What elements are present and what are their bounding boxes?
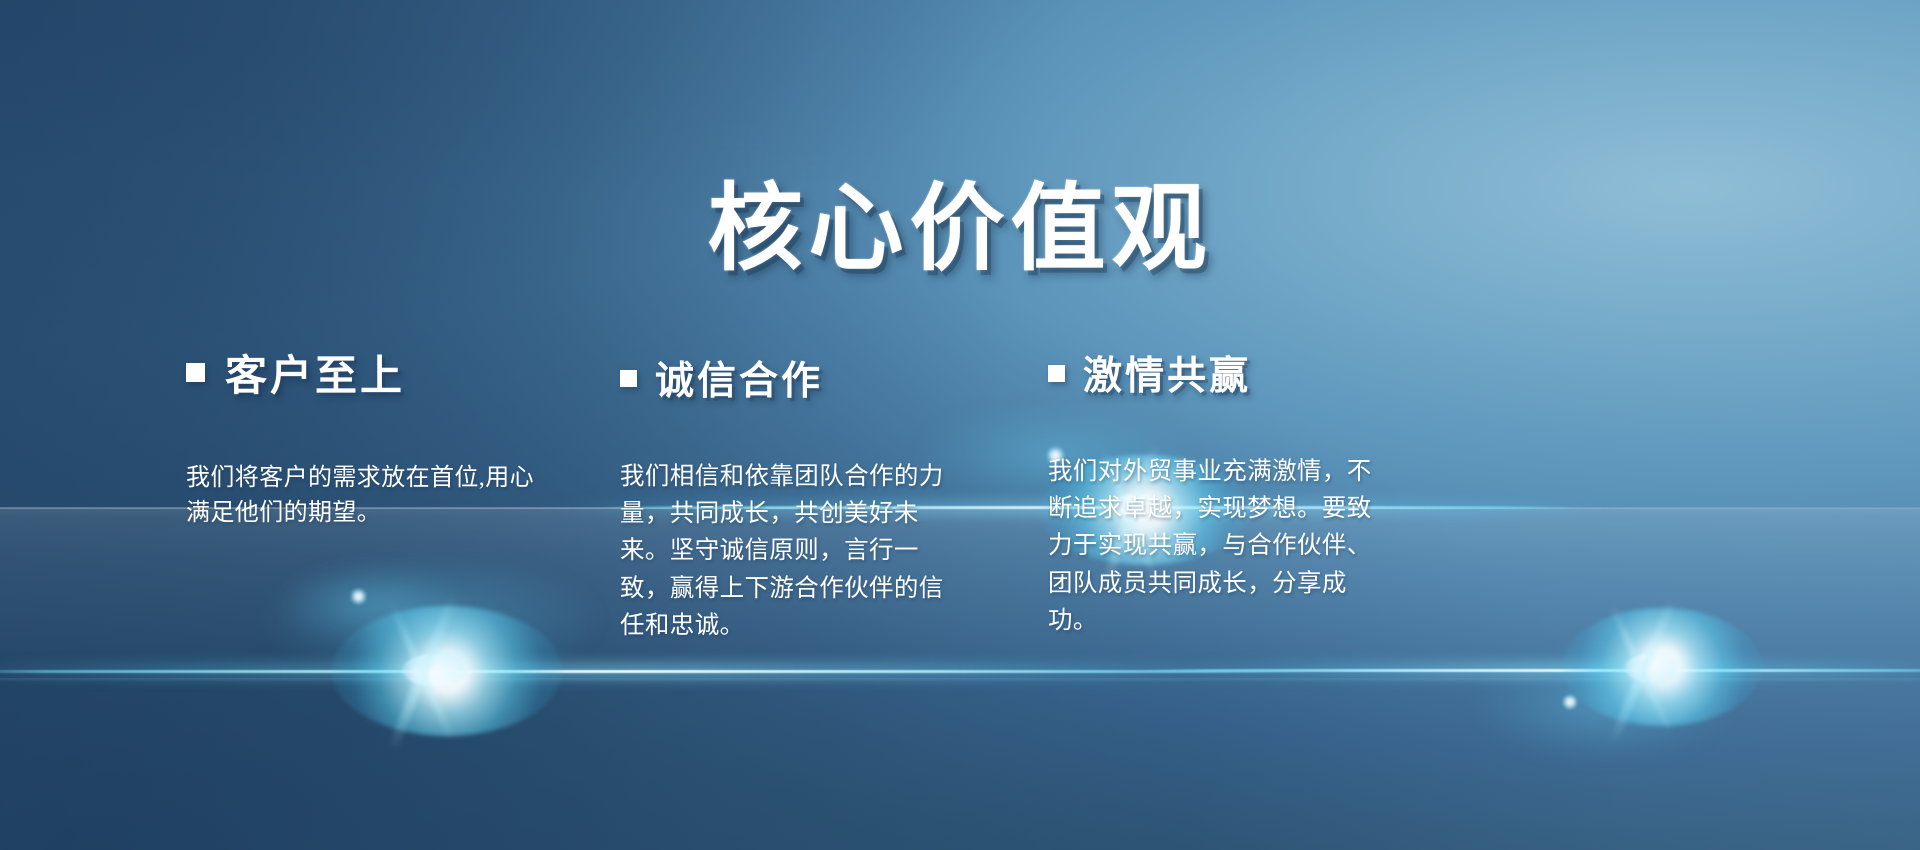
value-heading-3: 激情共赢 bbox=[1048, 345, 1448, 401]
value-heading-label-2: 诚信合作 bbox=[655, 350, 823, 406]
value-body-2: 我们相信和依靠团队合作的力量，共同成长，共创美好未来。坚守诚信原则，言行一致，赢… bbox=[620, 458, 950, 644]
value-heading-2: 诚信合作 bbox=[620, 350, 1020, 406]
value-heading-1: 客户至上 bbox=[186, 342, 616, 403]
square-bullet-icon bbox=[1048, 365, 1065, 382]
value-body-1: 我们将客户的需求放在首位,用心满足他们的期望。 bbox=[186, 461, 538, 531]
value-column-1: 客户至上 我们将客户的需求放在首位,用心满足他们的期望。 bbox=[186, 342, 616, 531]
values-columns: 客户至上 我们将客户的需求放在首位,用心满足他们的期望。 诚信合作 我们相信和依… bbox=[0, 0, 1920, 850]
value-heading-label-1: 客户至上 bbox=[225, 342, 405, 403]
square-bullet-icon bbox=[186, 363, 205, 382]
value-column-3: 激情共赢 我们对外贸事业充满激情，不断追求卓越，实现梦想。要致力于实现共赢，与合… bbox=[1048, 345, 1448, 639]
value-body-3: 我们对外贸事业充满激情，不断追求卓越，实现梦想。要致力于实现共赢，与合作伙伴、团… bbox=[1048, 453, 1378, 639]
core-values-banner: 核心价值观 客户至上 我们将客户的需求放在首位,用心满足他们的期望。 诚信合作 … bbox=[0, 0, 1920, 850]
square-bullet-icon bbox=[620, 370, 637, 387]
value-heading-label-3: 激情共赢 bbox=[1083, 345, 1251, 401]
value-column-2: 诚信合作 我们相信和依靠团队合作的力量，共同成长，共创美好未来。坚守诚信原则，言… bbox=[620, 350, 1020, 644]
